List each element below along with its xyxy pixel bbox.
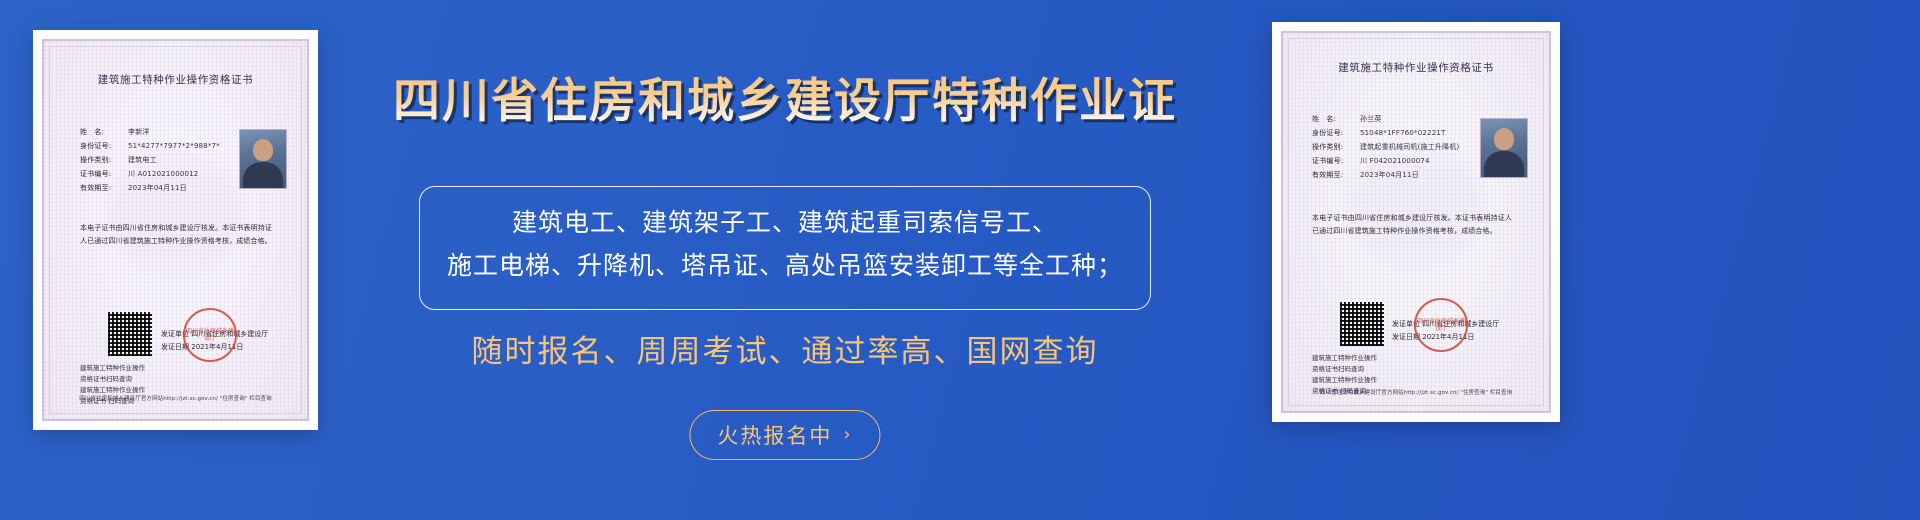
field-value: 51*4277*7977*2*988*7* — [128, 142, 220, 150]
certificate-field-row: 姓 名:李新洋 — [80, 125, 230, 139]
certificate-field-row: 操作类别:建筑起重机械司机(施工升降机) — [1312, 140, 1472, 154]
certificate-field-row: 有效期至:2023年04月11日 — [1312, 168, 1472, 182]
portrait-head — [253, 139, 273, 161]
certificate-field-row: 姓 名:孙兰英 — [1312, 112, 1472, 126]
course-scope-box: 建筑电工、建筑架子工、建筑起重司索信号工、 施工电梯、升降机、塔吊证、高处吊篮安… — [419, 186, 1151, 310]
enroll-now-button[interactable]: 火热报名中 › — [689, 410, 880, 460]
certificate-card-right: 建筑施工特种作业操作资格证书 姓 名:孙兰英 身份证号:51048*1FF760… — [1272, 22, 1560, 422]
certificate-statement-right: 本电子证书由四川省住房和城乡建设厅核发。本证书表明持证人已通过四川省建筑施工特种… — [1312, 212, 1512, 238]
field-value: 建筑起重机械司机(施工升降机) — [1360, 143, 1459, 151]
field-label: 有效期至: — [1312, 168, 1360, 182]
field-value: 51048*1FF760*02221T — [1360, 129, 1445, 137]
certificate-footer-left: 四川省住房和城乡建设厅官方网站http://jzt.sc.gov.cn/ "住房… — [33, 394, 318, 402]
certificate-fields-right: 姓 名:孙兰英 身份证号:51048*1FF760*02221T 操作类别:建筑… — [1312, 112, 1472, 182]
official-seal-right: 四川省住房城乡建设厅 — [1414, 298, 1468, 352]
field-label: 身份证号: — [1312, 126, 1360, 140]
certificate-fields-left: 姓 名:李新洋 身份证号:51*4277*7977*2*988*7* 操作类别:… — [80, 125, 230, 195]
certificate-statement-left: 本电子证书由四川省住房和城乡建设厅核发。本证书表明持证人已通过四川省建筑施工特种… — [80, 222, 272, 248]
note-line: 建筑施工特种作业操作 — [80, 363, 145, 374]
field-label: 身份证号: — [80, 139, 128, 153]
field-label: 有效期至: — [80, 181, 128, 195]
certificate-title-right: 建筑施工特种作业操作资格证书 — [1272, 60, 1560, 75]
certificate-portrait-photo-left — [239, 129, 287, 189]
qr-code-icon-left — [108, 312, 152, 356]
portrait-head — [1494, 128, 1514, 150]
certificate-field-row: 操作类别:建筑电工 — [80, 153, 230, 167]
qr-code-icon-right — [1340, 302, 1384, 346]
field-value: 李新洋 — [128, 128, 150, 136]
certificate-footer-right: 四川省住房和城乡建设厅官方网站http://jzt.sc.gov.cn/ "住房… — [1272, 388, 1560, 396]
chevron-right-icon: › — [843, 426, 852, 444]
field-label: 证书编号: — [1312, 154, 1360, 168]
field-value: 2023年04月11日 — [1360, 171, 1419, 179]
field-value: 川 A012021000012 — [128, 170, 198, 178]
course-scope-line-1: 建筑电工、建筑架子工、建筑起重司索信号工、 — [420, 206, 1150, 240]
certificate-field-row: 身份证号:51*4277*7977*2*988*7* — [80, 139, 230, 153]
note-line: 建筑施工特种作业操作 — [1312, 353, 1377, 364]
field-label: 操作类别: — [80, 153, 128, 167]
field-value: 川 F042021000074 — [1360, 157, 1430, 165]
field-value: 2023年04月11日 — [128, 184, 187, 192]
enroll-now-label: 火热报名中 — [717, 420, 832, 450]
banner-title: 四川省住房和城乡建设厅特种作业证 — [360, 74, 1210, 130]
note-line: 资格证书扫码查询 — [80, 374, 145, 385]
field-value: 建筑电工 — [128, 156, 157, 164]
banner-tagline: 随时报名、周周考试、通过率高、国网查询 — [360, 332, 1210, 372]
course-scope-line-2: 施工电梯、升降机、塔吊证、高处吊篮安装卸工等全工种； — [420, 249, 1150, 283]
field-label: 姓 名: — [1312, 112, 1360, 126]
certificate-field-row: 身份证号:51048*1FF760*02221T — [1312, 126, 1472, 140]
field-label: 证书编号: — [80, 167, 128, 181]
official-seal-left: 四川省住房城乡建设厅 — [183, 308, 237, 362]
field-label: 姓 名: — [80, 125, 128, 139]
certificate-portrait-photo-right — [1480, 118, 1528, 178]
certificate-card-left: 建筑施工特种作业操作资格证书 姓 名:李新洋 身份证号:51*4277*7977… — [33, 30, 318, 430]
certificate-field-row: 证书编号:川 F042021000074 — [1312, 154, 1472, 168]
field-label: 操作类别: — [1312, 140, 1360, 154]
promo-banner: 建筑施工特种作业操作资格证书 姓 名:李新洋 身份证号:51*4277*7977… — [0, 0, 1920, 520]
certificate-title-left: 建筑施工特种作业操作资格证书 — [33, 72, 318, 87]
portrait-body — [243, 162, 283, 188]
certificate-field-row: 有效期至:2023年04月11日 — [80, 181, 230, 195]
note-line: 资格证书扫码查询 — [1312, 364, 1377, 375]
banner-center-content: 四川省住房和城乡建设厅特种作业证 建筑电工、建筑架子工、建筑起重司索信号工、 施… — [360, 0, 1210, 520]
portrait-body — [1484, 151, 1524, 177]
note-line: 建筑施工特种作业操作 — [1312, 375, 1377, 386]
field-value: 孙兰英 — [1360, 115, 1382, 123]
certificate-field-row: 证书编号:川 A012021000012 — [80, 167, 230, 181]
